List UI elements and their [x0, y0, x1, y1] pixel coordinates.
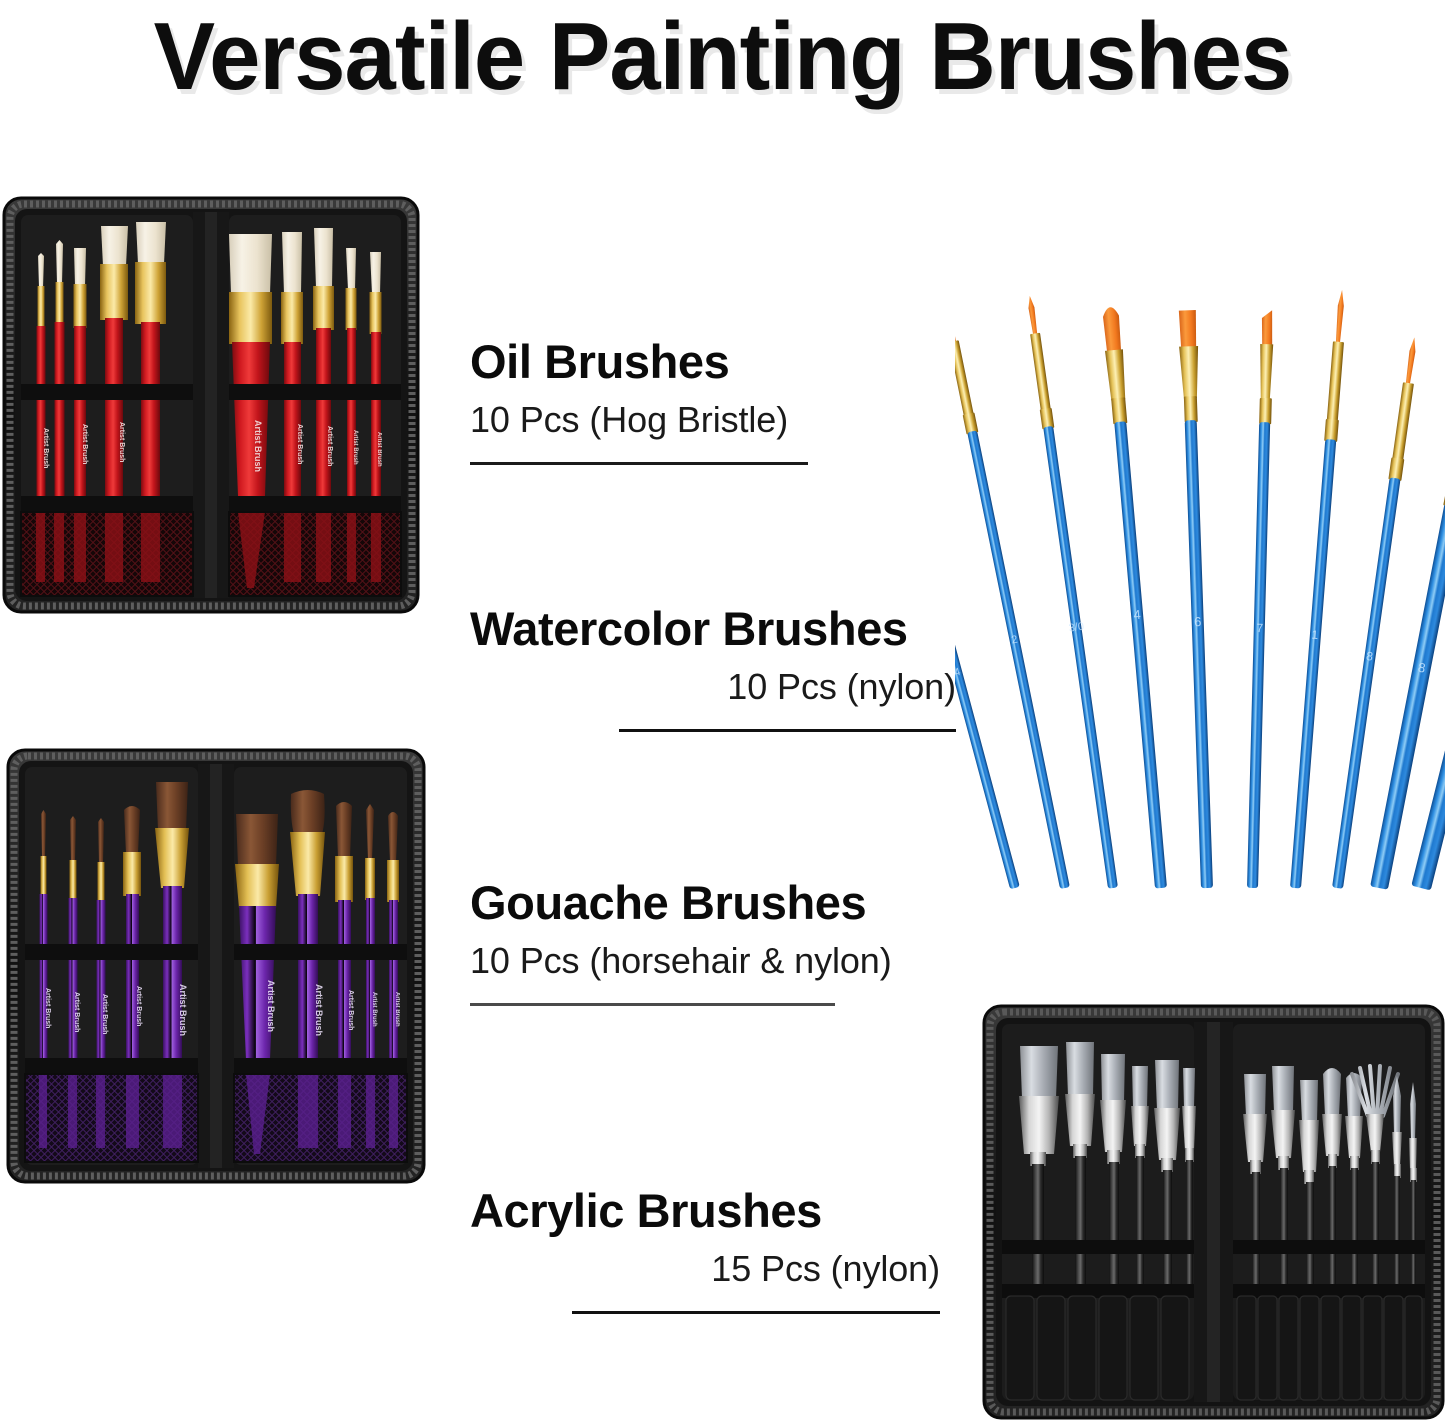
svg-text:Artist Brush: Artist Brush [314, 984, 324, 1036]
svg-text:Artist Brush: Artist Brush [371, 992, 377, 1027]
svg-text:Artist Brush: Artist Brush [376, 432, 382, 467]
infographic-page: Versatile Painting Brushes [0, 0, 1445, 1420]
svg-text:Artist Brush: Artist Brush [394, 992, 400, 1027]
svg-text:Artist Brush: Artist Brush [118, 422, 125, 462]
watercolor-brushes-label-block: Watercolor Brushes 10 Pcs (nylon) [470, 604, 956, 732]
watercolor-brushes-subtitle: 10 Pcs (nylon) [470, 664, 956, 709]
acrylic-brushes-subtitle: 15 Pcs (nylon) [470, 1246, 940, 1291]
oil-brushes-subtitle: 10 Pcs (Hog Bristle) [470, 397, 990, 442]
svg-text:Artist Brush: Artist Brush [73, 992, 80, 1032]
brush-handle-brand: Artist Brush [42, 428, 49, 468]
gouache-brushes-label-block: Gouache Brushes 10 Pcs (horsehair & nylo… [470, 878, 946, 1006]
svg-text:Artist Brush: Artist Brush [81, 424, 88, 464]
gouache-brush-case-image: Artist Brush Artist Brush Artist Brush A… [6, 748, 426, 1184]
gouache-brushes-subtitle: 10 Pcs (horsehair & nylon) [470, 938, 946, 983]
watercolor-brushes-divider [619, 729, 956, 732]
svg-text:4: 4 [1133, 607, 1142, 623]
svg-text:3/0: 3/0 [1068, 621, 1085, 635]
acrylic-brush-case-image [982, 1004, 1445, 1420]
oil-brushes-heading: Oil Brushes [470, 337, 990, 388]
svg-text:Artist Brush: Artist Brush [326, 426, 333, 466]
svg-text:6: 6 [1194, 614, 1202, 629]
svg-text:Artist Brush: Artist Brush [296, 424, 303, 464]
svg-text:Artist Brush: Artist Brush [347, 990, 354, 1030]
acrylic-brushes-divider [572, 1311, 940, 1314]
watercolor-brush-fan-image: 4 2 3/0 4 [955, 288, 1445, 936]
acrylic-brushes-heading: Acrylic Brushes [470, 1186, 940, 1237]
page-title: Versatile Painting Brushes [29, 2, 1416, 112]
svg-text:Artist Brush: Artist Brush [253, 420, 263, 472]
oil-brushes-label-block: Oil Brushes 10 Pcs (Hog Bristle) [470, 337, 990, 465]
svg-text:7: 7 [1256, 621, 1263, 635]
oil-brushes-divider [470, 462, 808, 465]
svg-text:Artist Brush: Artist Brush [266, 980, 276, 1032]
gouache-brushes-heading: Gouache Brushes [470, 878, 946, 929]
watercolor-brushes-heading: Watercolor Brushes [470, 604, 956, 655]
svg-text:Artist Brush: Artist Brush [101, 994, 108, 1034]
svg-text:Artist Brush: Artist Brush [178, 984, 188, 1036]
gouache-brushes-divider [470, 1003, 835, 1006]
svg-text:Artist Brush: Artist Brush [135, 986, 142, 1026]
acrylic-brushes-label-block: Acrylic Brushes 15 Pcs (nylon) [470, 1186, 940, 1314]
svg-text:Artist Brush: Artist Brush [352, 430, 358, 465]
oil-brush-case-image: Artist Brush Artist Brush Artist Brush A… [2, 196, 420, 614]
svg-text:Artist Brush: Artist Brush [44, 988, 51, 1028]
